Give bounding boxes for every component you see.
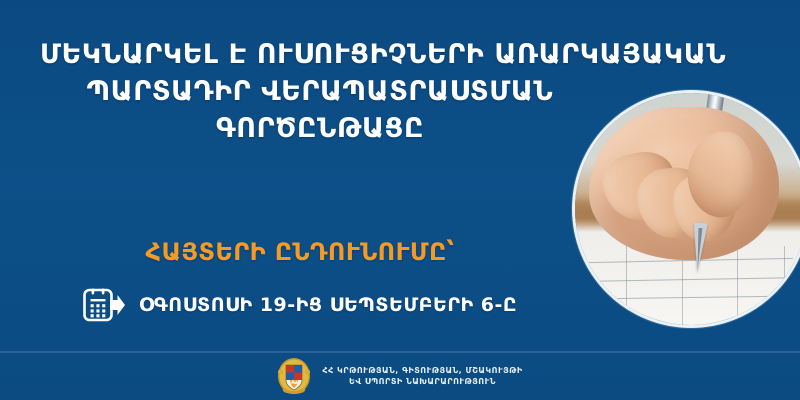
footer: ՀՀ ԿՐԹՈՒԹՅԱՆ, ԳԻՏՈՒԹՅԱՆ, ՄՇԱԿՈՒՅԹԻ ԵՎ ՍՊ… (0, 357, 800, 395)
footer-divider (0, 351, 800, 353)
ministry-name: ՀՀ ԿՐԹՈՒԹՅԱՆ, ԳԻՏՈՒԹՅԱՆ, ՄՇԱԿՈՒՅԹԻ ԵՎ ՍՊ… (322, 365, 522, 387)
announcement-poster: ՄԵԿՆԱՐԿԵԼ Է ՈՒՍՈՒՑԻՉՆԵՐԻ ԱՌԱՐԿԱՅԱԿԱՆ ՊԱՐ… (0, 0, 800, 400)
paper-column-line (784, 246, 785, 325)
armenian-coat-of-arms-icon (277, 357, 311, 395)
subtitle-applications-label: ՀԱՅՏԵՐԻ ԸՆԴՈՒՆՈՒՄԸ՝ (40, 238, 560, 266)
headline: ՄԵԿՆԱՐԿԵԼ Է ՈՒՍՈՒՑԻՉՆԵՐԻ ԱՌԱՐԿԱՅԱԿԱՆ ՊԱՐ… (40, 36, 600, 147)
paper-rule-line (582, 296, 800, 300)
ministry-name-line-1: ՀՀ ԿՐԹՈՒԹՅԱՆ, ԳԻՏՈՒԹՅԱՆ, ՄՇԱԿՈՒՅԹԻ (322, 365, 522, 376)
date-range-text: ՕԳՈՍՏՈՍԻ 19-ԻՑ ՍԵՊՏԵՄԲԵՐԻ 6-Ը (139, 294, 517, 316)
ministry-name-line-2: ԵՎ ՍՊՈՐՏԻ ՆԱԽԱՐԱՐՈՒԹՅՈՒՆ (322, 376, 522, 387)
headline-line-3: ԳՈՐԾԸՆԹԱՑԸ (40, 110, 600, 147)
hand (589, 107, 779, 260)
headline-line-1: ՄԵԿՆԱՐԿԵԼ Է ՈՒՍՈՒՑԻՉՆԵՐԻ ԱՌԱՐԿԱՅԱԿԱՆ (40, 36, 600, 73)
calendar-arrow-icon (83, 288, 125, 322)
paper-column-line (626, 246, 627, 325)
hand-writing-with-pen-photo (572, 90, 800, 328)
date-row: ՕԳՈՍՏՈՍԻ 19-ԻՑ ՍԵՊՏԵՄԲԵՐԻ 6-Ը (40, 288, 560, 322)
paper-rule-line (584, 277, 797, 282)
headline-line-2: ՊԱՐՏԱԴԻՐ ՎԵՐԱՊԱՏՐԱՍՏՄԱՆ (40, 73, 600, 110)
paper-column-line (737, 246, 738, 325)
photo-image (575, 93, 800, 325)
